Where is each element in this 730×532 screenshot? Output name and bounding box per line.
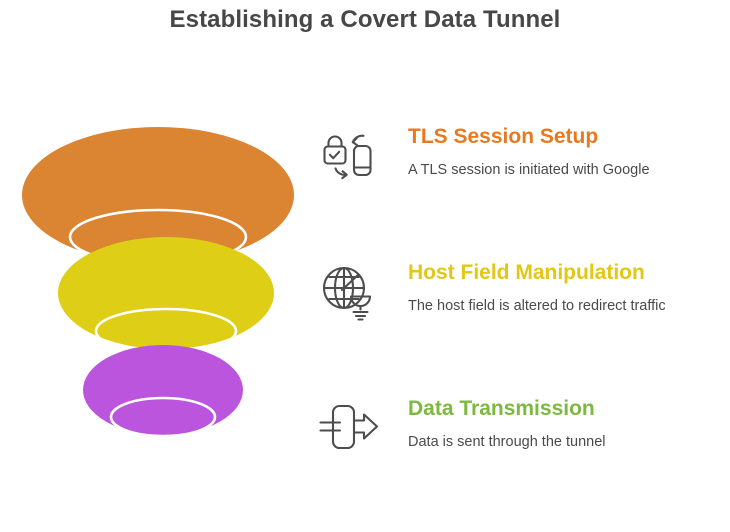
step-row: TLS Session Setup A TLS session is initi… — [318, 124, 718, 260]
step-row: Data Transmission Data is sent through t… — [318, 396, 718, 532]
data-transfer-arrow-icon — [318, 398, 380, 460]
lock-check-device-sync-icon — [318, 126, 380, 188]
step-body: TLS Session Setup A TLS session is initi… — [408, 124, 718, 180]
step-description: Data is sent through the tunnel — [408, 432, 718, 452]
funnel-tier-3-body — [83, 345, 243, 435]
step-body: Data Transmission Data is sent through t… — [408, 396, 718, 452]
steps-list: TLS Session Setup A TLS session is initi… — [318, 124, 718, 532]
funnel-graphic — [18, 125, 318, 455]
step-body: Host Field Manipulation The host field i… — [408, 260, 718, 316]
step-heading: TLS Session Setup — [408, 124, 718, 150]
step-row: Host Field Manipulation The host field i… — [318, 260, 718, 396]
step-heading: Host Field Manipulation — [408, 260, 718, 286]
step-heading: Data Transmission — [408, 396, 718, 422]
step-description: A TLS session is initiated with Google — [408, 160, 718, 180]
funnel-tier-2 — [58, 237, 274, 353]
page-title: Establishing a Covert Data Tunnel — [0, 6, 730, 34]
step-description: The host field is altered to redirect tr… — [408, 296, 718, 316]
funnel-tier-3 — [83, 345, 243, 436]
globe-satellite-dish-icon — [318, 262, 380, 324]
funnel-tier-2-body — [58, 237, 274, 349]
